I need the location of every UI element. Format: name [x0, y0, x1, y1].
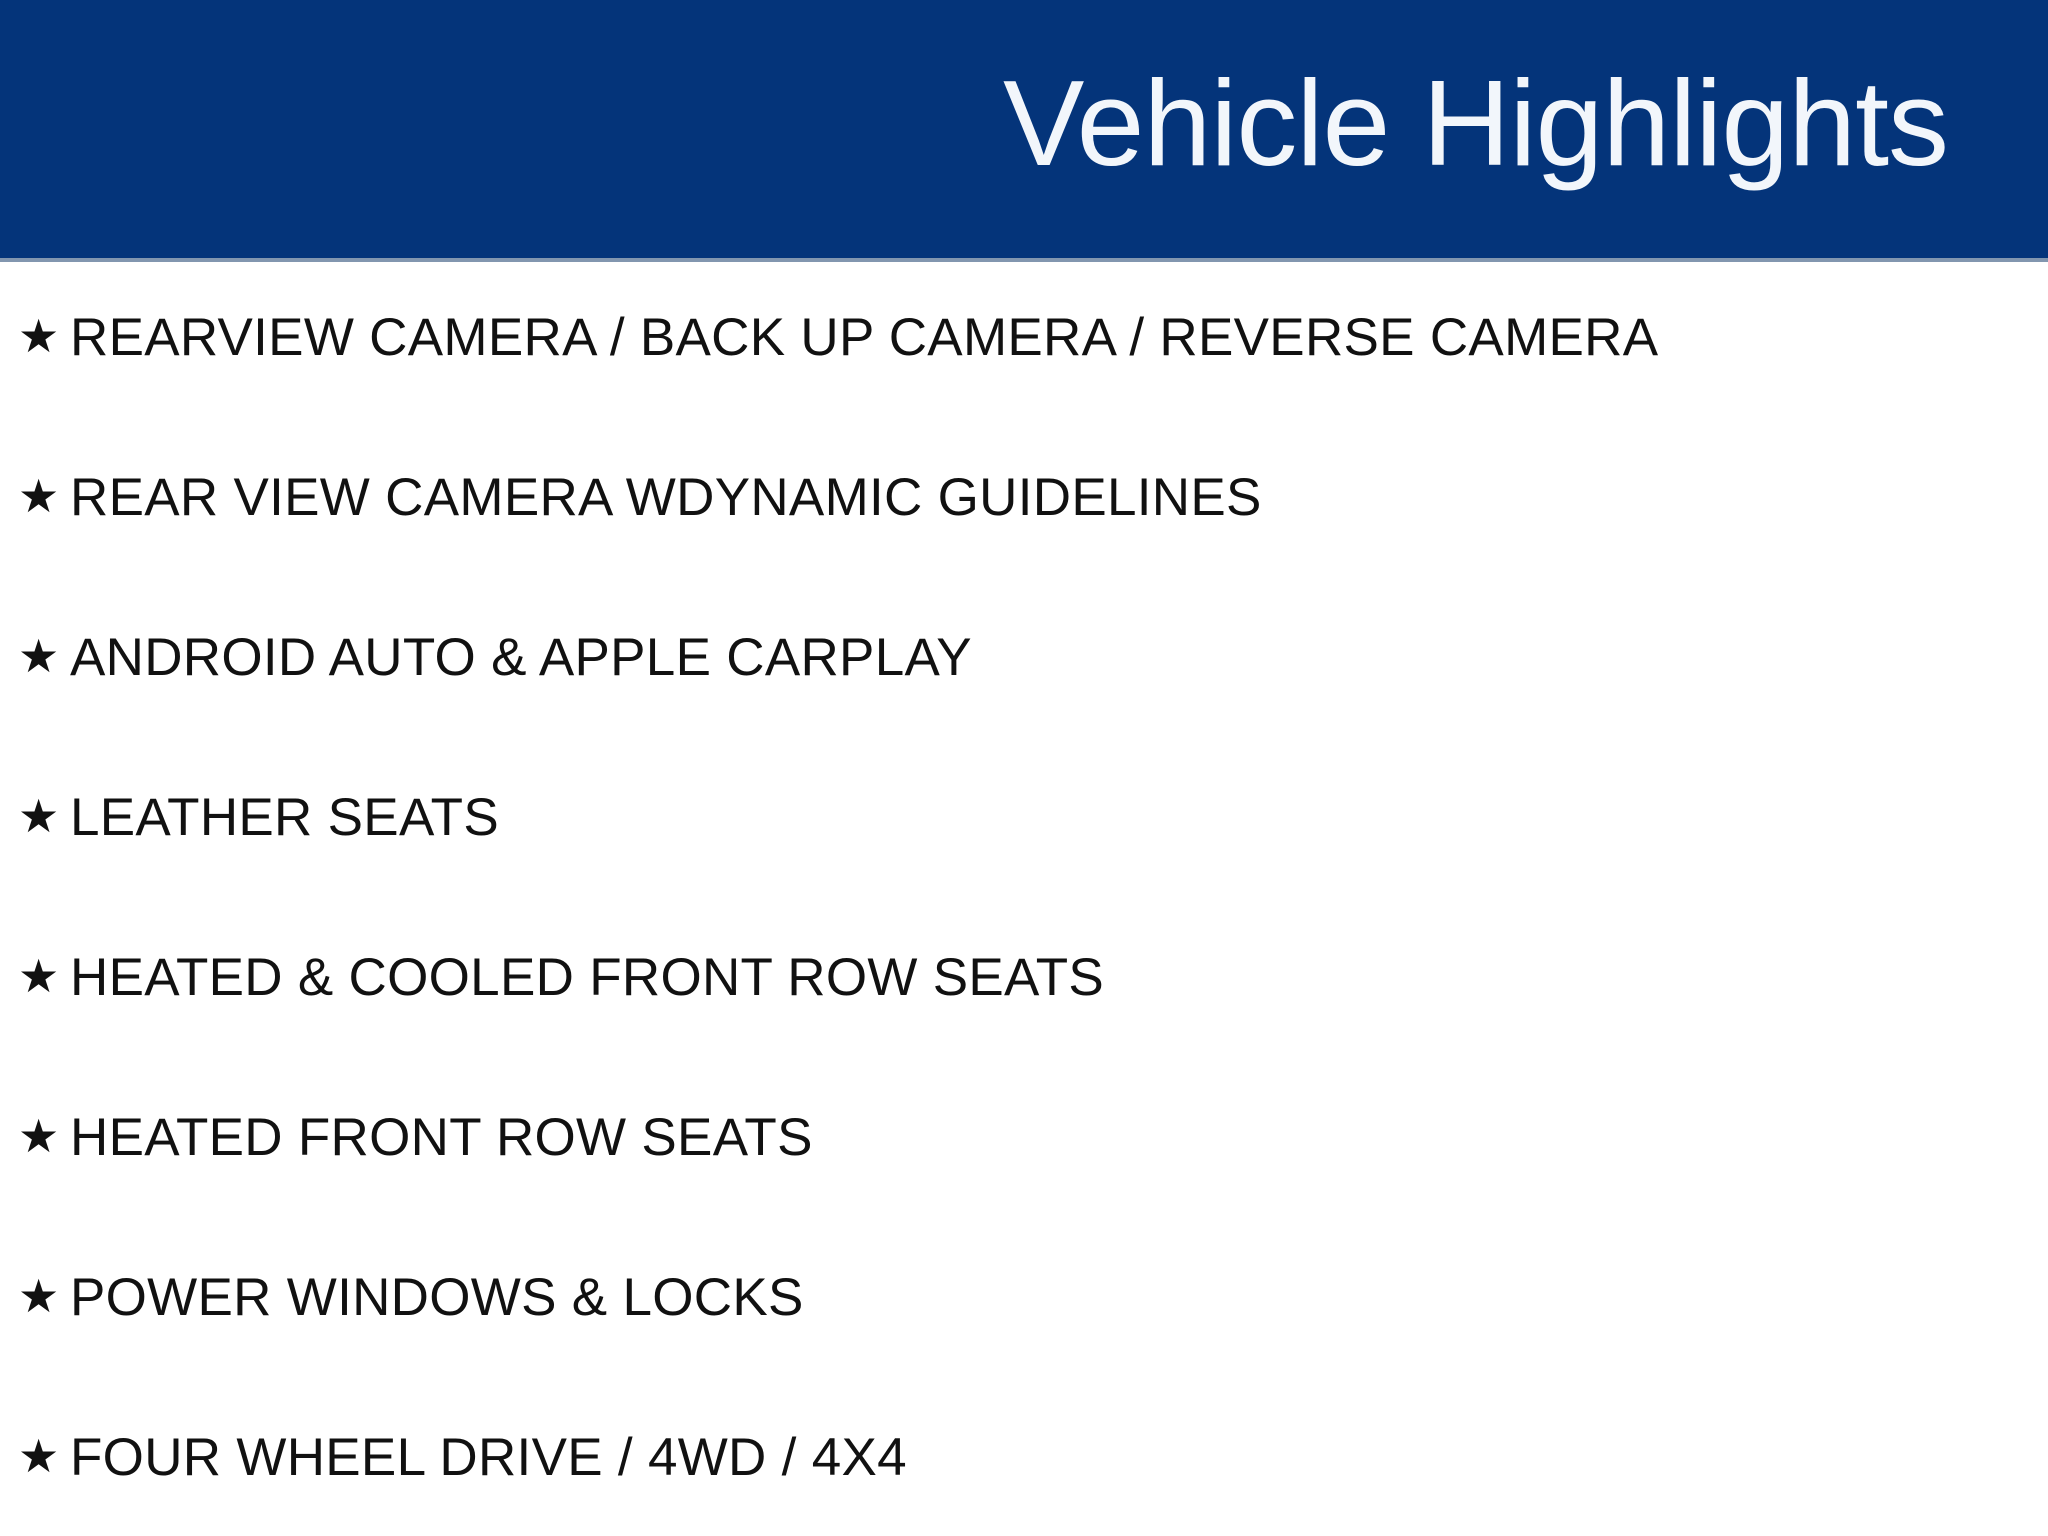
- star-icon: ★: [18, 313, 70, 359]
- list-item: ★ HEATED & COOLED FRONT ROW SEATS: [0, 898, 2048, 1058]
- list-item: ★ REARVIEW CAMERA / BACK UP CAMERA / REV…: [0, 258, 2048, 418]
- star-icon: ★: [18, 1273, 70, 1319]
- highlight-label: LEATHER SEATS: [70, 789, 499, 847]
- highlight-label: REAR VIEW CAMERA WDYNAMIC GUIDELINES: [70, 469, 1262, 527]
- star-icon: ★: [18, 1433, 70, 1479]
- list-item: ★ REAR VIEW CAMERA WDYNAMIC GUIDELINES: [0, 418, 2048, 578]
- star-icon: ★: [18, 1113, 70, 1159]
- star-icon: ★: [18, 633, 70, 679]
- highlight-label: HEATED FRONT ROW SEATS: [70, 1109, 813, 1167]
- page-header: Vehicle Highlights: [0, 0, 2048, 258]
- star-icon: ★: [18, 473, 70, 519]
- vehicle-highlights-list: ★ REARVIEW CAMERA / BACK UP CAMERA / REV…: [0, 258, 2048, 1536]
- page-title: Vehicle Highlights: [1003, 62, 1948, 184]
- vehicle-highlights-page: Vehicle Highlights ★ REARVIEW CAMERA / B…: [0, 0, 2048, 1536]
- highlight-label: FOUR WHEEL DRIVE / 4WD / 4X4: [70, 1429, 907, 1487]
- star-icon: ★: [18, 793, 70, 839]
- list-item: ★ LEATHER SEATS: [0, 738, 2048, 898]
- highlight-label: ANDROID AUTO & APPLE CARPLAY: [70, 629, 972, 687]
- highlight-label: POWER WINDOWS & LOCKS: [70, 1269, 804, 1327]
- list-item: ★ FOUR WHEEL DRIVE / 4WD / 4X4: [0, 1378, 2048, 1536]
- list-item: ★ POWER WINDOWS & LOCKS: [0, 1218, 2048, 1378]
- list-item: ★ HEATED FRONT ROW SEATS: [0, 1058, 2048, 1218]
- highlight-label: REARVIEW CAMERA / BACK UP CAMERA / REVER…: [70, 309, 1658, 367]
- highlight-label: HEATED & COOLED FRONT ROW SEATS: [70, 949, 1104, 1007]
- star-icon: ★: [18, 953, 70, 999]
- list-item: ★ ANDROID AUTO & APPLE CARPLAY: [0, 578, 2048, 738]
